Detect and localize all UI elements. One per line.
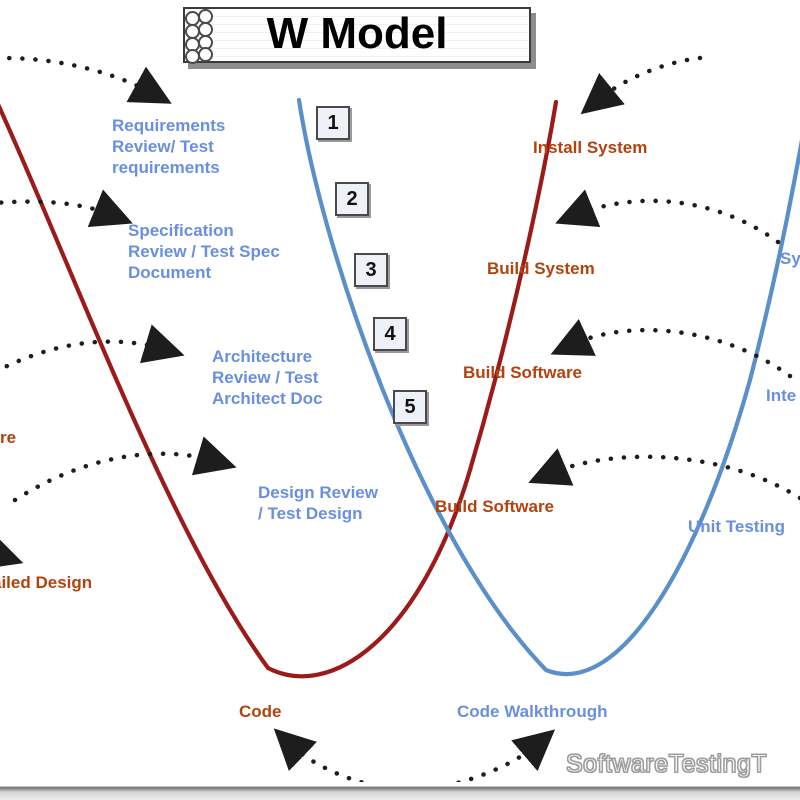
label-detailed-design-stage: ailed Design (0, 572, 92, 593)
arrow-build-software-1 (571, 330, 790, 376)
label-integration-testing: Inte (766, 385, 796, 406)
arrow-build-software-2 (549, 457, 800, 498)
label-specification-review: Specification Review / Test Spec Documen… (128, 220, 280, 283)
label-build-software-upper: Build Software (463, 362, 582, 383)
bottom-frame-bar (0, 782, 800, 800)
arrow-install-system (598, 58, 700, 100)
number-box-5[interactable]: 5 (393, 390, 427, 424)
label-architecture-review: Architecture Review / Test Architect Doc (212, 346, 323, 409)
arrow-build-system (576, 201, 778, 242)
label-system-testing: Sy (780, 248, 800, 269)
label-install-system: Install System (533, 137, 647, 158)
number-box-4[interactable]: 4 (373, 317, 407, 351)
arrow-arch-review (0, 342, 163, 372)
label-build-system: Build System (487, 258, 595, 279)
title-banner: W Model (183, 7, 533, 65)
label-build-software-lower: Build Software (435, 496, 554, 517)
number-box-1[interactable]: 1 (316, 106, 350, 140)
label-architecture-stage: ture (0, 427, 16, 448)
label-code-stage: Code (239, 701, 282, 722)
number-box-3[interactable]: 3 (354, 253, 388, 287)
label-requirements-review: Requirements Review/ Test requirements (112, 115, 225, 178)
arrow-spec-review (0, 202, 112, 215)
w-model-diagram: W Model Requirements Review/ Test requir… (0, 0, 800, 800)
number-box-2[interactable]: 2 (335, 182, 369, 216)
label-code-walkthrough-stage: Code Walkthrough (457, 701, 607, 722)
watermark: SoftwareTestingT (566, 750, 767, 779)
arrow-design-review (15, 454, 215, 500)
page-title: W Model (183, 7, 531, 63)
label-design-review: Design Review / Test Design (258, 482, 378, 524)
label-unit-testing: Unit Testing (688, 516, 785, 537)
arrow-detailed-design (0, 545, 2, 556)
arrow-req-review (0, 58, 152, 93)
validation-curve (299, 100, 800, 674)
